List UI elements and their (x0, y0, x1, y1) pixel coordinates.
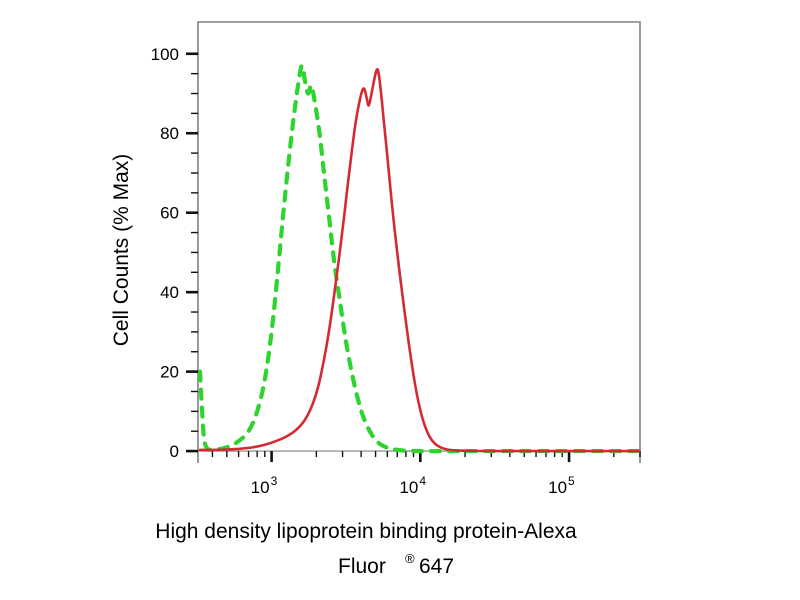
registered-trademark-icon: ® (405, 551, 415, 566)
y-tick-label: 60 (160, 204, 179, 223)
y-tick-label: 100 (151, 45, 179, 64)
chart-title-line1: High density lipoprotein binding protein… (155, 520, 577, 543)
x-tick-exponent: 4 (419, 474, 426, 488)
x-tick-exponent: 5 (568, 474, 575, 488)
y-tick-label: 80 (160, 124, 179, 143)
chart-title-647: 647 (419, 555, 454, 578)
flow-cytometry-histogram: 103104105 020406080100 Cell Counts (% Ma… (0, 0, 800, 600)
y-tick-label: 20 (160, 363, 179, 382)
x-tick-label: 10 (548, 478, 567, 497)
y-tick-label: 40 (160, 283, 179, 302)
x-tick-label: 10 (251, 478, 270, 497)
y-tick-label: 0 (170, 442, 179, 461)
y-axis-title: Cell Counts (% Max) (110, 154, 133, 347)
x-tick-label: 10 (399, 478, 418, 497)
chart-title-fluor: Fluor (338, 555, 386, 578)
x-tick-exponent: 3 (271, 474, 278, 488)
